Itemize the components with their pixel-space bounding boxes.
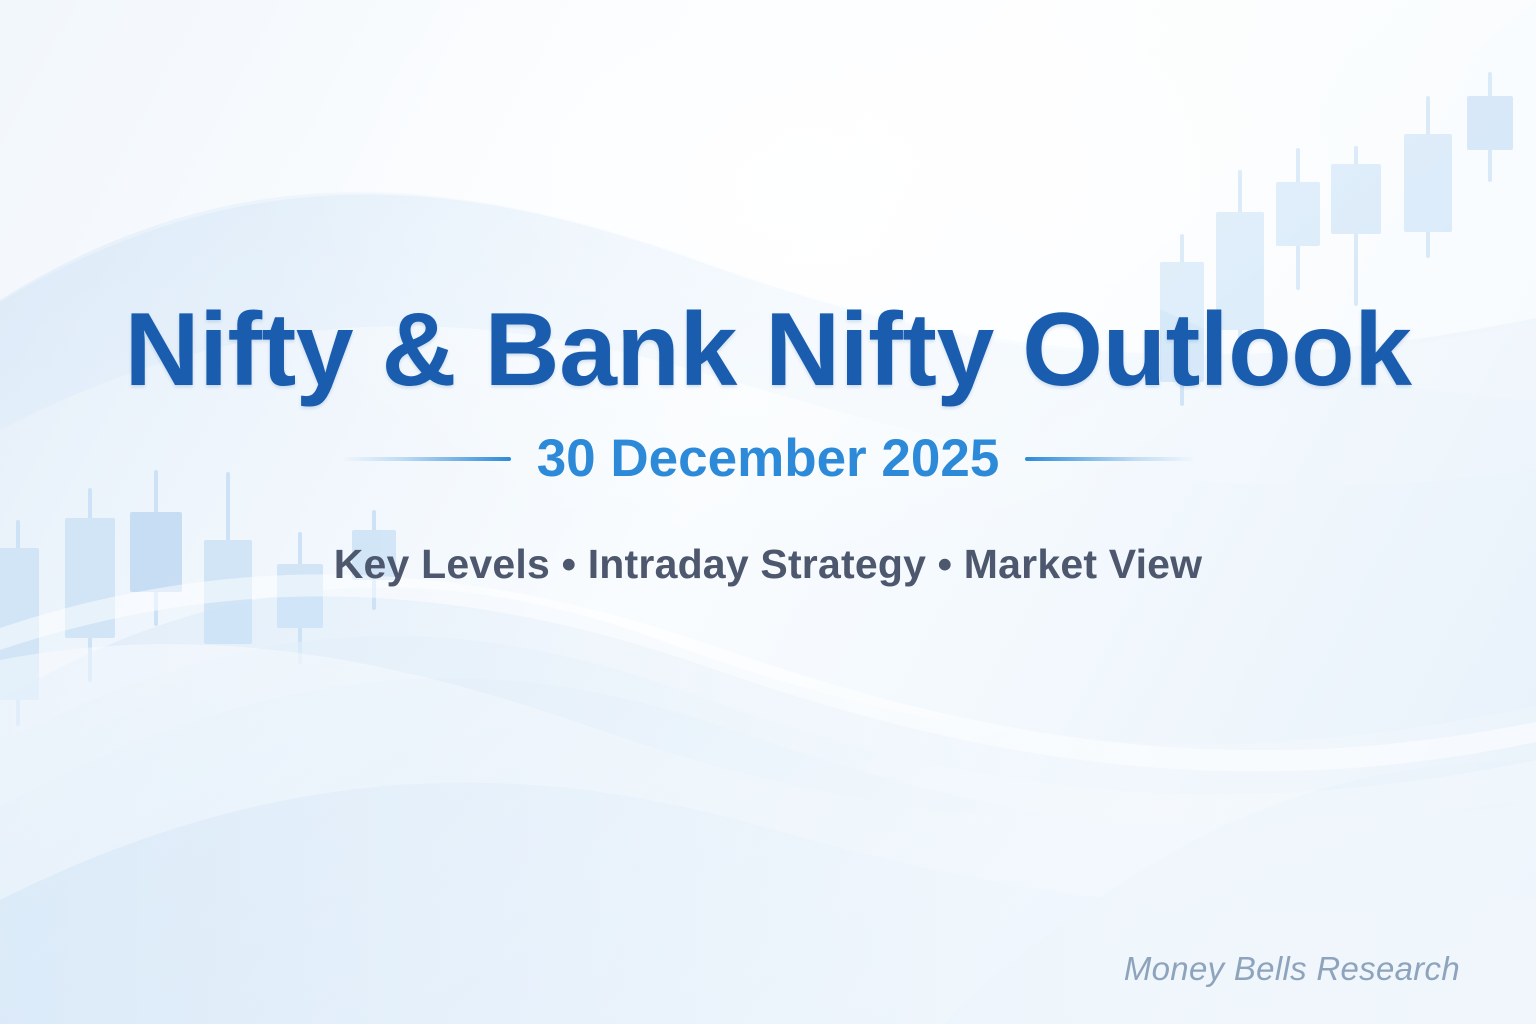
- decorative-rule-left: [341, 457, 511, 461]
- brand-credit: Money Bells Research: [1124, 950, 1460, 988]
- poster-tagline: Key Levels • Intraday Strategy • Market …: [334, 541, 1203, 588]
- poster-canvas: Nifty & Bank Nifty Outlook 30 December 2…: [0, 0, 1536, 1024]
- poster-content: Nifty & Bank Nifty Outlook 30 December 2…: [0, 0, 1536, 1024]
- date-row: 30 December 2025: [0, 428, 1536, 489]
- decorative-rule-right: [1025, 457, 1195, 461]
- page-title: Nifty & Bank Nifty Outlook: [124, 296, 1411, 404]
- poster-date: 30 December 2025: [537, 428, 1000, 489]
